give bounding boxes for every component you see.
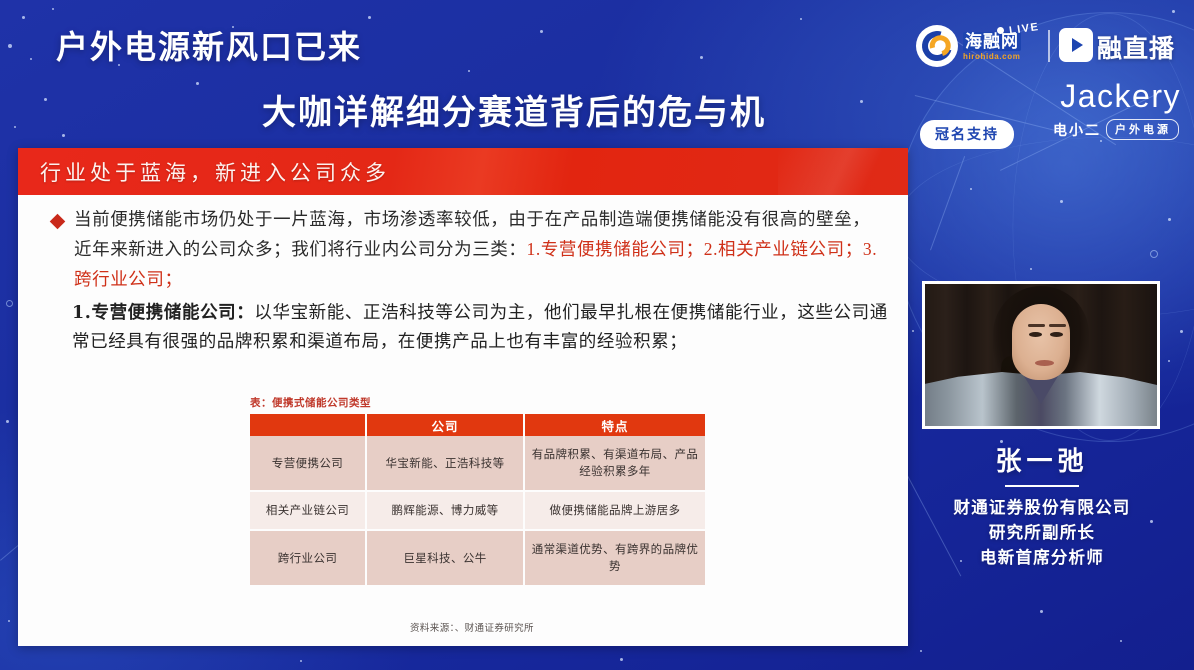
- table-row: 专营便携公司 华宝新能、正浩科技等 有品牌积累、有渠道布局、产品经验积累多年: [250, 436, 705, 491]
- star-dot: [1180, 330, 1183, 333]
- row2-category: 相关产业链公司: [250, 491, 366, 530]
- star-dot: [620, 658, 623, 661]
- row3-category: 跨行业公司: [250, 530, 366, 585]
- star-dot: [30, 58, 32, 60]
- bullet-paragraph-1: 当前便携储能市场仍处于一片蓝海，市场渗透率较低，由于在产品制造端便携储能没有很高…: [30, 206, 888, 295]
- slide-title-bar: 行业处于蓝海，新进入公司众多: [18, 148, 908, 195]
- star-dot: [912, 330, 914, 332]
- star-dot: [1172, 10, 1175, 13]
- speaker-divider: [1005, 485, 1079, 487]
- header-title-line2: 大咖详解细分赛道背后的危与机: [262, 85, 766, 134]
- video-lips: [1035, 360, 1054, 366]
- star-dot: [8, 620, 10, 622]
- rong-live-logo[interactable]: 融直播: [1059, 22, 1175, 65]
- star-dot: [700, 56, 703, 59]
- mesh-line: [930, 156, 965, 250]
- branding-cluster: 海融网 hirohida.com 融直播 LIVE Jackery 电小二 户外…: [913, 22, 1185, 138]
- star-dot: [6, 420, 9, 423]
- livestream-stage: 户外电源新风口已来 大咖详解细分赛道背后的危与机 海融网 hirohida.co…: [0, 0, 1194, 670]
- row3-feature: 通常渠道优势、有跨界的品牌优势: [524, 530, 705, 585]
- star-dot: [860, 100, 863, 103]
- header-title-line1: 户外电源新风口已来: [56, 22, 362, 68]
- table-row: 跨行业公司 巨星科技、公牛 通常渠道优势、有跨界的品牌优势: [250, 530, 705, 585]
- table-header-company: 公司: [366, 414, 524, 436]
- speaker-title-1: 研究所副所长: [922, 521, 1162, 546]
- star-dot: [196, 82, 199, 85]
- star-dot: [468, 70, 470, 72]
- hairong-logo[interactable]: 海融网 hirohida.com: [916, 25, 1021, 67]
- star-dot: [62, 134, 65, 137]
- row3-company: 巨星科技、公牛: [366, 530, 524, 585]
- table-caption: 表：便携式储能公司类型: [250, 395, 705, 410]
- rong-live-label: 融直播: [1097, 29, 1175, 65]
- jackery-sublabel: 电小二 户外电源: [1053, 119, 1179, 140]
- star-dot: [14, 126, 16, 128]
- speaker-video-feed[interactable]: [922, 281, 1160, 429]
- speaker-info-panel: 张一弛 财通证券股份有限公司 研究所副所长 电新首席分析师: [922, 441, 1162, 571]
- live-badge-text: LIVE: [1008, 21, 1040, 37]
- star-dot: [368, 16, 371, 19]
- star-dot: [8, 44, 12, 48]
- presentation-slide: 行业处于蓝海，新进入公司众多 当前便携储能市场仍处于一片蓝海，市场渗透率较低，由…: [18, 148, 908, 646]
- jackery-logo[interactable]: Jackery: [1060, 78, 1181, 115]
- diamond-bullet-icon: [50, 214, 66, 230]
- star-dot: [44, 98, 47, 101]
- row1-feature: 有品牌积累、有渠道布局、产品经验积累多年: [524, 436, 705, 491]
- star-dot: [1040, 610, 1043, 613]
- video-brow-right: [1049, 324, 1066, 327]
- star-dot: [1168, 218, 1171, 221]
- table-header-feature: 特点: [524, 414, 705, 436]
- sponsor-badge: 冠名支持: [920, 120, 1014, 149]
- table-header-blank: [250, 414, 366, 436]
- paragraph-1-text: 当前便携储能市场仍处于一片蓝海，市场渗透率较低，由于在产品制造端便携储能没有很高…: [74, 206, 888, 295]
- table-header-row: 公司 特点: [250, 414, 705, 436]
- star-dot: [1030, 268, 1032, 270]
- video-brow-left: [1028, 324, 1045, 327]
- company-type-table: 公司 特点 专营便携公司 华宝新能、正浩科技等 有品牌积累、有渠道布局、产品经验…: [250, 414, 705, 585]
- table-row: 相关产业链公司 鹏辉能源、博力威等 做便携储能品牌上游居多: [250, 491, 705, 530]
- star-dot: [920, 650, 922, 652]
- ring-decoration: [6, 300, 13, 307]
- row1-company: 华宝新能、正浩科技等: [366, 436, 524, 491]
- slide-body: 当前便携储能市场仍处于一片蓝海，市场渗透率较低，由于在产品制造端便携储能没有很高…: [18, 195, 908, 357]
- speaker-affiliation: 财通证券股份有限公司: [922, 496, 1162, 521]
- speaker-name: 张一弛: [922, 441, 1162, 478]
- row2-company: 鹏辉能源、博力威等: [366, 491, 524, 530]
- star-dot: [22, 16, 25, 19]
- star-dot: [1060, 200, 1063, 203]
- slide-title: 行业处于蓝海，新进入公司众多: [40, 157, 390, 187]
- star-dot: [970, 188, 972, 190]
- row2-feature: 做便携储能品牌上游居多: [524, 491, 705, 530]
- star-dot: [800, 18, 802, 20]
- video-eye-right: [1050, 332, 1063, 337]
- paragraph-2-lead: 1.专营便携储能公司：: [72, 303, 254, 323]
- speaker-title-2: 电新首席分析师: [922, 546, 1162, 571]
- video-face: [1012, 304, 1070, 380]
- hairong-swirl-icon: [916, 25, 958, 67]
- dianxiaoer-label: 电小二: [1053, 120, 1101, 140]
- ring-decoration: [1150, 250, 1158, 258]
- star-dot: [300, 660, 302, 662]
- star-dot: [1120, 640, 1122, 642]
- star-dot: [52, 8, 54, 10]
- outdoor-power-label: 户外电源: [1106, 119, 1179, 140]
- brand-divider: [1048, 30, 1050, 62]
- live-indicator-dot: [997, 27, 1004, 34]
- hairong-logo-url: hirohida.com: [963, 53, 1021, 61]
- star-dot: [540, 30, 543, 33]
- star-dot: [1100, 140, 1102, 142]
- company-type-table-block: 表：便携式储能公司类型 公司 特点 专营便携公司 华宝新能、正浩科技等 有品牌积…: [250, 395, 705, 585]
- paragraph-2: 1.专营便携储能公司：以华宝新能、正浩科技等公司为主，他们最早扎根在便携储能行业…: [72, 299, 888, 357]
- table-source-note: 资料来源：、财通证券研究所: [410, 620, 534, 634]
- star-dot: [1168, 360, 1170, 362]
- row1-category: 专营便携公司: [250, 436, 366, 491]
- play-icon: [1059, 28, 1093, 62]
- video-eye-left: [1029, 332, 1042, 337]
